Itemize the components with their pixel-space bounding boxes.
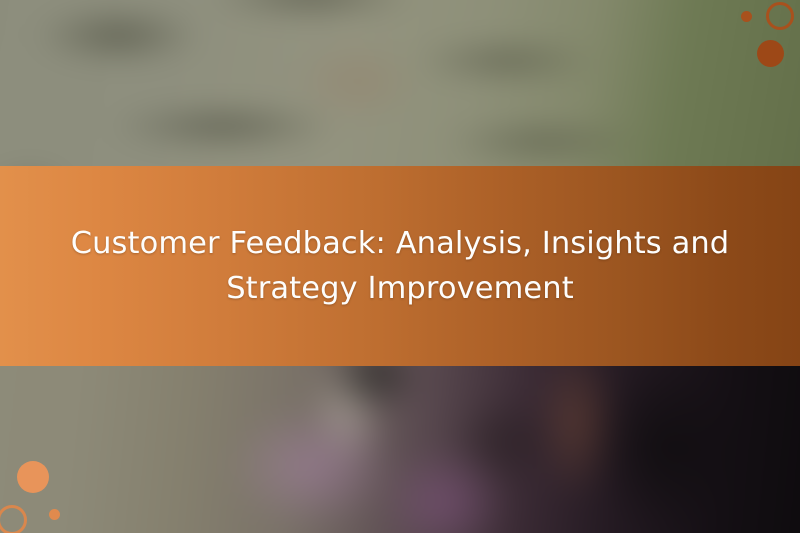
page-title-line-2: Strategy Improvement: [70, 266, 730, 311]
decorative-dot-small-top-right: [741, 11, 752, 22]
background-image-bottom: [0, 360, 800, 533]
decorative-ring-bottom-left: [0, 505, 27, 533]
decorative-dot-large-top-right: [757, 40, 784, 67]
background-blur-texture-top: [0, 0, 800, 172]
decorative-dot-large-bottom-left: [17, 461, 49, 493]
decorative-dot-small-bottom-left: [49, 509, 60, 520]
background-blur-texture-bottom: [0, 360, 800, 533]
page-title-line-1: Customer Feedback: Analysis, Insights an…: [70, 221, 730, 266]
background-image-top: [0, 0, 800, 172]
title-banner: Customer Feedback: Analysis, Insights an…: [0, 166, 800, 366]
decorative-ring-top-right: [766, 2, 794, 30]
slide-canvas: Customer Feedback: Analysis, Insights an…: [0, 0, 800, 533]
page-title: Customer Feedback: Analysis, Insights an…: [70, 221, 730, 311]
